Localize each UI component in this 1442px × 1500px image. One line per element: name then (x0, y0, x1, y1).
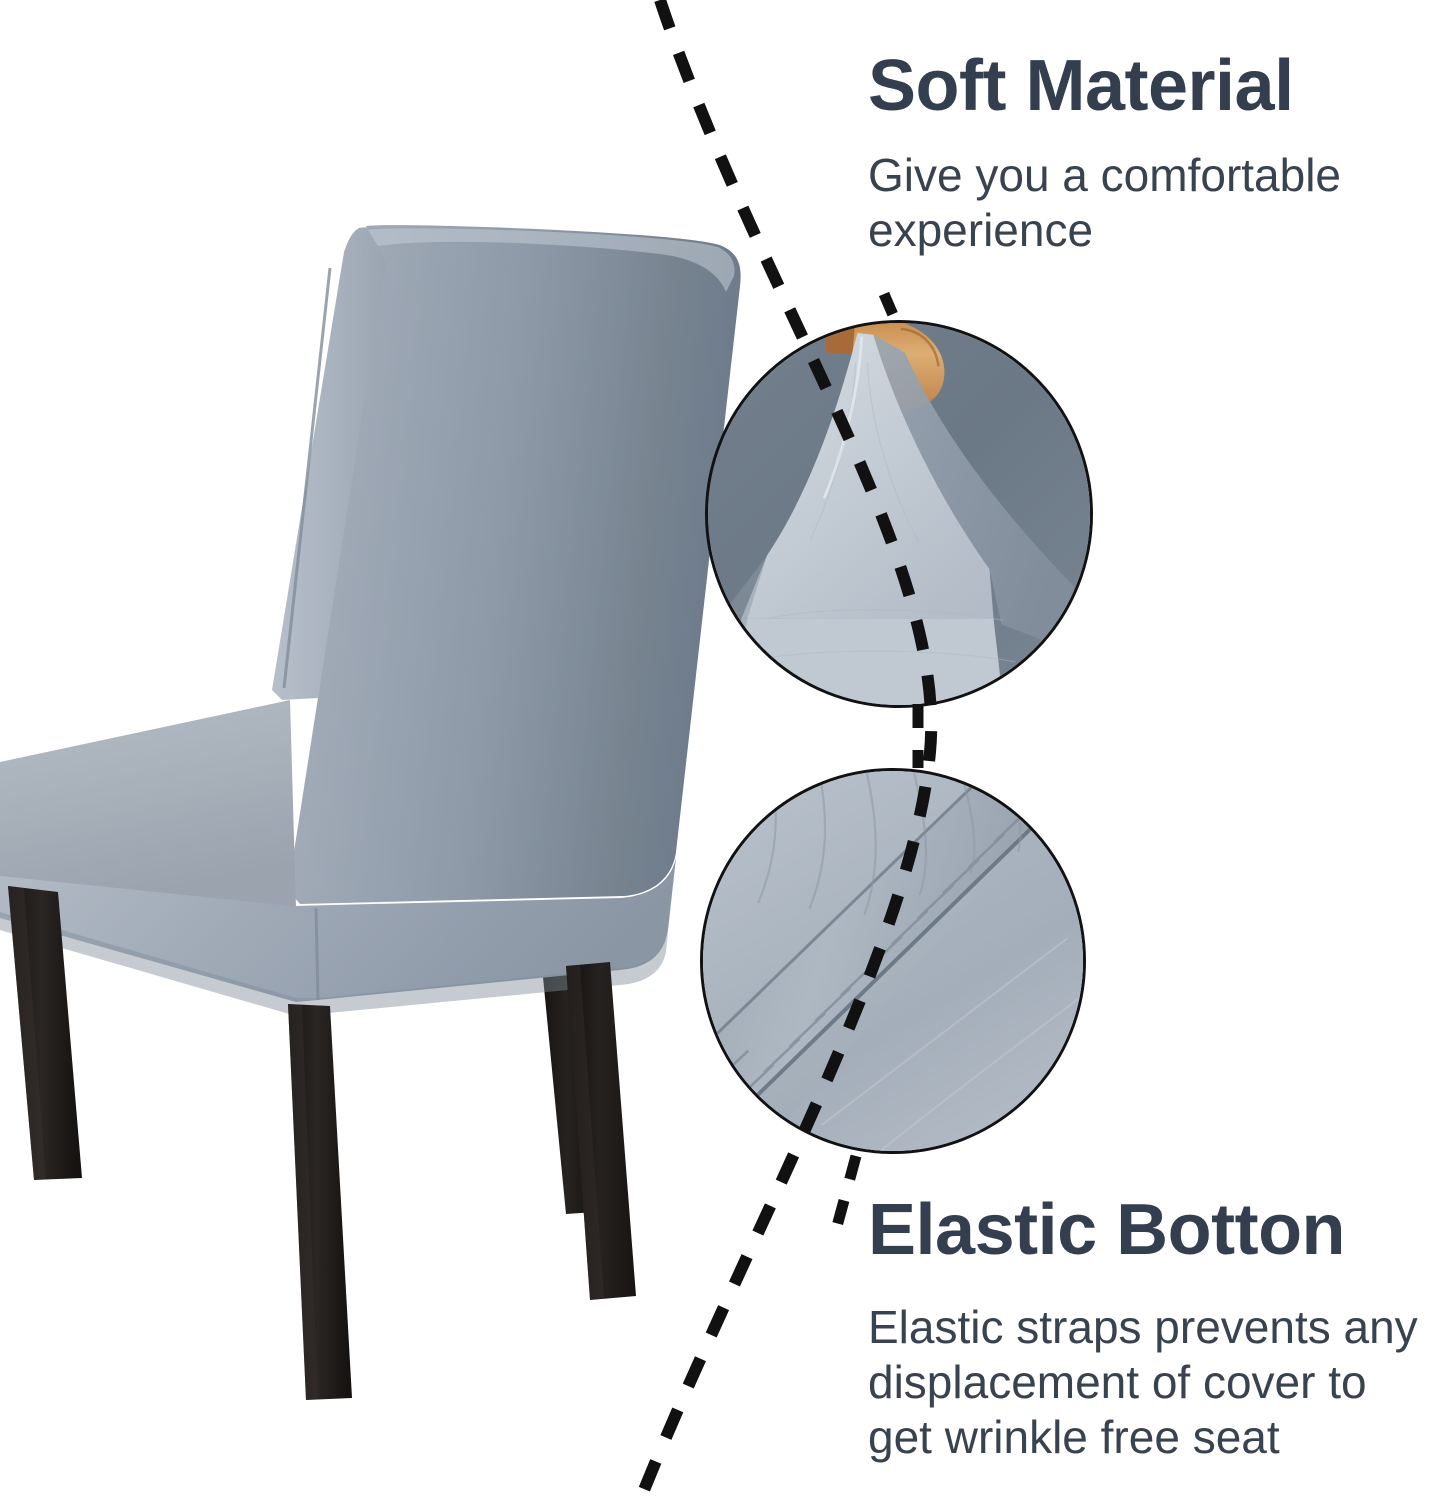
dashed-leader-to-bottom-circle (836, 1156, 856, 1230)
feature-title-soft-material: Soft Material (868, 48, 1428, 126)
chair-illustration (0, 0, 760, 1420)
chair-photo (0, 0, 760, 1420)
detail-circle-fabric-pinch (705, 320, 1093, 708)
seat-surface (0, 700, 296, 908)
feature-description-elastic-bottom: Elastic straps prevents any displacement… (868, 1300, 1434, 1466)
detail-circle-elastic-hem (700, 768, 1086, 1154)
infographic-canvas: Soft Material Give you a comfortable exp… (0, 0, 1442, 1500)
feature-block-soft-material: Soft Material Give you a comfortable exp… (868, 48, 1428, 258)
feature-description-soft-material: Give you a comfortable experience (868, 148, 1428, 258)
feature-block-elastic-bottom: Elastic Botton Elastic straps prevents a… (868, 1192, 1434, 1465)
elastic-hem-icon (703, 771, 1083, 1151)
feature-title-elastic-bottom: Elastic Botton (868, 1192, 1434, 1270)
fabric-pinch-icon (708, 323, 1090, 705)
fabric-peak-base (728, 618, 1004, 705)
dashed-leader-to-top-circle (884, 294, 896, 322)
skirt-seam (316, 908, 318, 1000)
